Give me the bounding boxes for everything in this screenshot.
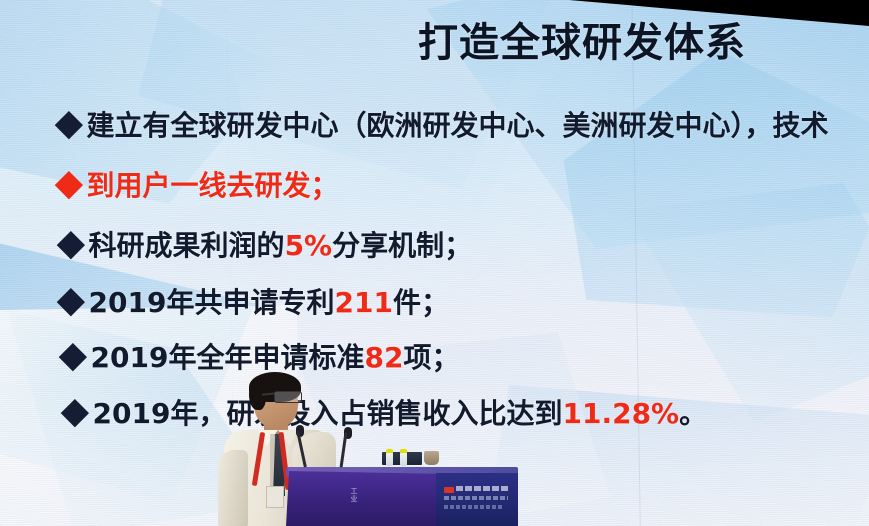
water-bottle bbox=[386, 452, 393, 466]
badge-card bbox=[266, 486, 284, 508]
podium-logo-mark bbox=[444, 487, 454, 493]
bullet-text-5-pre: 2019年全年申请标准 bbox=[91, 341, 365, 374]
bullet-text-3-post: 分享机制； bbox=[332, 229, 472, 262]
bullet-highlight-3: 5% bbox=[285, 229, 333, 262]
slide-content: 打造全球研发体系 建立有全球研发中心（欧洲研发中心、美洲研发中心），技术 到用户… bbox=[0, 0, 869, 526]
slide-title: 打造全球研发体系 bbox=[418, 22, 746, 64]
diamond-bullet-icon bbox=[57, 231, 86, 260]
bullet-highlight-6: 11.28% bbox=[562, 397, 679, 430]
podium-logo-text bbox=[456, 486, 508, 491]
bullet-text-5-post: 项； bbox=[403, 341, 459, 374]
diamond-bullet-icon bbox=[57, 288, 86, 317]
bullet-item-5: 2019年全年申请标准82项； bbox=[62, 336, 459, 376]
podium-front-text: 工业 bbox=[342, 487, 358, 503]
bullet-text-6-post: 。 bbox=[679, 397, 707, 430]
bullet-text-4-pre: 2019年共申请专利 bbox=[89, 286, 335, 319]
podium: 工业 bbox=[286, 465, 518, 526]
diamond-bullet-icon bbox=[61, 399, 90, 428]
bullet-highlight-5: 82 bbox=[364, 341, 403, 374]
coffee-cup bbox=[424, 451, 439, 465]
bullet-text-4-post: 件； bbox=[393, 286, 449, 319]
water-bottle bbox=[400, 452, 407, 466]
diamond-bullet-icon bbox=[55, 171, 84, 200]
bottle-cap bbox=[400, 449, 407, 453]
bullet-item-6: 2019年，研发投入占销售收入比达到11.28%。 bbox=[64, 392, 707, 432]
bullet-item-2: 到用户一线去研发； bbox=[58, 164, 339, 204]
photo-frame: 打造全球研发体系 建立有全球研发中心（欧洲研发中心、美洲研发中心），技术 到用户… bbox=[0, 0, 869, 526]
bullet-text-2: 到用户一线去研发； bbox=[87, 169, 339, 202]
diamond-bullet-icon bbox=[59, 343, 88, 372]
bullet-item-3: 科研成果利润的5%分享机制； bbox=[60, 224, 472, 264]
podium-subtitle-text bbox=[444, 496, 508, 500]
eyeglasses-icon bbox=[274, 391, 302, 403]
bullet-text-3-pre: 科研成果利润的 bbox=[89, 229, 285, 262]
bottle-cap bbox=[386, 449, 393, 453]
bullet-item-1: 建立有全球研发中心（欧洲研发中心、美洲研发中心），技术 bbox=[58, 104, 829, 144]
speaker-arm-left bbox=[218, 450, 248, 526]
bullet-text-1: 建立有全球研发中心（欧洲研发中心、美洲研发中心），技术 bbox=[87, 109, 829, 142]
bullet-item-4: 2019年共申请专利211件； bbox=[60, 281, 449, 321]
diamond-bullet-icon bbox=[55, 111, 84, 140]
bullet-highlight-4: 211 bbox=[334, 286, 392, 319]
podium-caption-text bbox=[444, 505, 502, 509]
podium-front-panel bbox=[286, 471, 438, 526]
